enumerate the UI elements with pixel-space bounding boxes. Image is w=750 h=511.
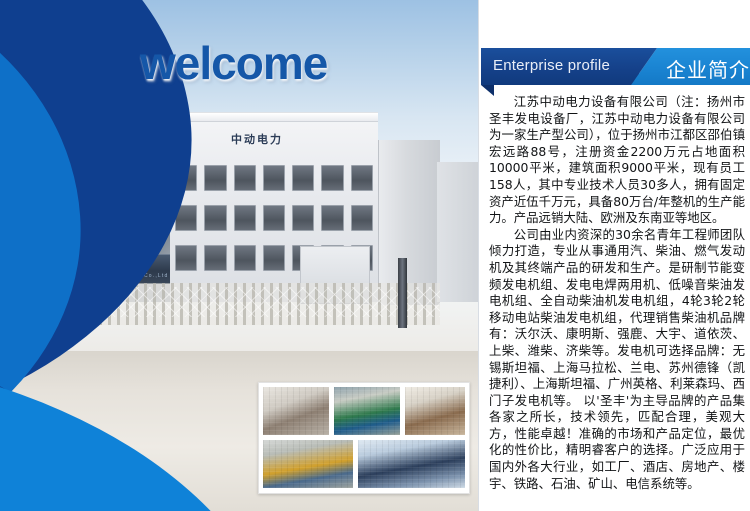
photo-grid-row-bottom: [262, 439, 466, 489]
enterprise-profile-header-bar: Enterprise profile 企业简介: [481, 48, 750, 85]
office-meeting-photo: [262, 386, 330, 436]
factory-side-building: [437, 162, 478, 302]
enterprise-profile-body: 江苏中动电力设备有限公司（注：扬州市圣丰发电设备厂，江苏中动电力设备有限公司为一…: [489, 94, 745, 492]
enterprise-profile-title-en: Enterprise profile: [493, 57, 610, 74]
photo-grid-row-top: [262, 386, 466, 436]
factory-slab-building: [378, 140, 440, 305]
building-rooftop-sign: 中动电力: [231, 131, 283, 147]
enterprise-profile-title-cn: 企业简介: [666, 54, 750, 83]
facility-photo-grid: [258, 382, 470, 494]
generator-workshop-photo: [333, 386, 401, 436]
open-office-photo: [404, 386, 466, 436]
window-row: [175, 165, 373, 191]
window-row: [175, 205, 373, 231]
building-roofline: [169, 113, 378, 122]
enterprise-profile-panel: Enterprise profile 企业简介 江苏中动电力设备有限公司（注：扬…: [478, 0, 750, 511]
generator-warehouse-photo: [262, 439, 354, 489]
profile-paragraph-2: 公司由业内资深的30余名青年工程师团队倾力打造，专业从事通用汽、柴油、燃气发动机…: [489, 227, 745, 493]
company-profile-banner: 中动电力 江苏中动电力设备有限公司 Jiangsu Zhongdong Powe…: [0, 0, 750, 511]
gate-post: [398, 258, 407, 328]
profile-paragraph-1: 江苏中动电力设备有限公司（注：扬州市圣丰发电设备厂，江苏中动电力设备有限公司为一…: [489, 94, 745, 227]
welcome-title: welcome: [140, 36, 327, 90]
conference-room-photo: [357, 439, 466, 489]
left-photo-panel: 中动电力 江苏中动电力设备有限公司 Jiangsu Zhongdong Powe…: [0, 0, 478, 511]
